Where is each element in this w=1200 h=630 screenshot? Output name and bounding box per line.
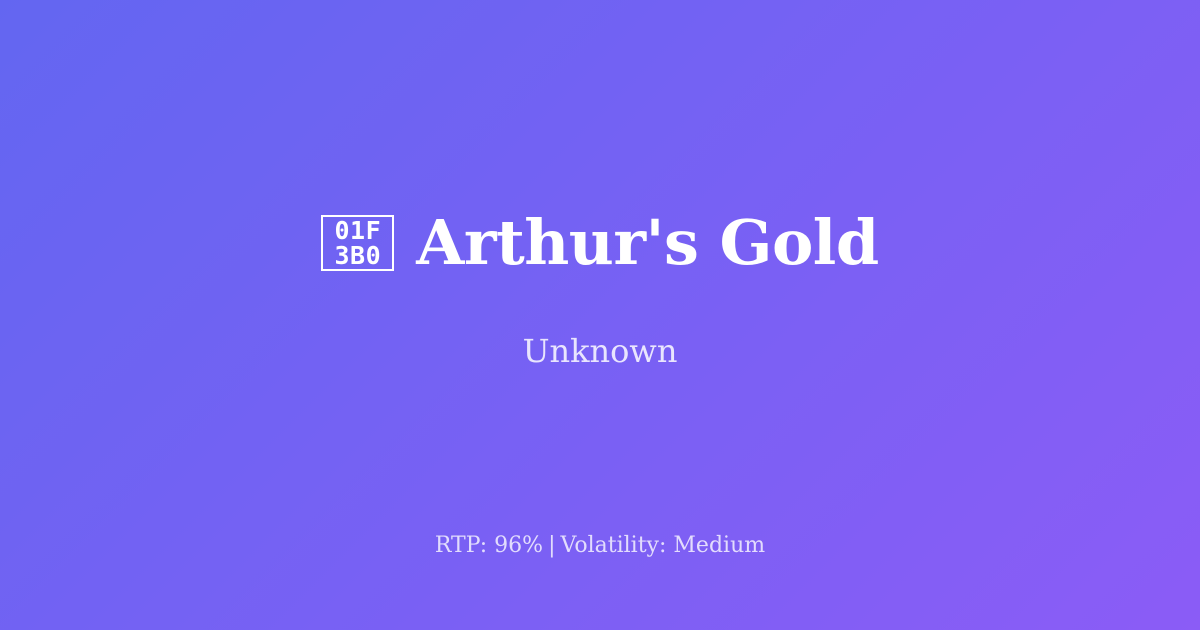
volatility-value: Medium <box>673 533 765 558</box>
tofu-codepoint-line-1: 01F <box>334 218 381 243</box>
rtp-value: 96% <box>494 533 543 558</box>
social-share-card: 01F 3B0 Arthur's Gold Unknown RTP: 96%|V… <box>0 0 1200 630</box>
game-meta-line: RTP: 96%|Volatility: Medium <box>0 532 1200 560</box>
game-provider: Unknown <box>523 331 678 371</box>
game-title-row: 01F 3B0 Arthur's Gold <box>321 207 878 279</box>
slot-machine-emoji-icon: 01F 3B0 <box>321 215 394 271</box>
game-title: Arthur's Gold <box>416 207 878 279</box>
rtp-label: RTP: <box>435 533 487 558</box>
meta-separator: | <box>543 533 560 558</box>
volatility-label: Volatility: <box>561 533 667 558</box>
tofu-codepoint-line-2: 3B0 <box>334 243 381 268</box>
